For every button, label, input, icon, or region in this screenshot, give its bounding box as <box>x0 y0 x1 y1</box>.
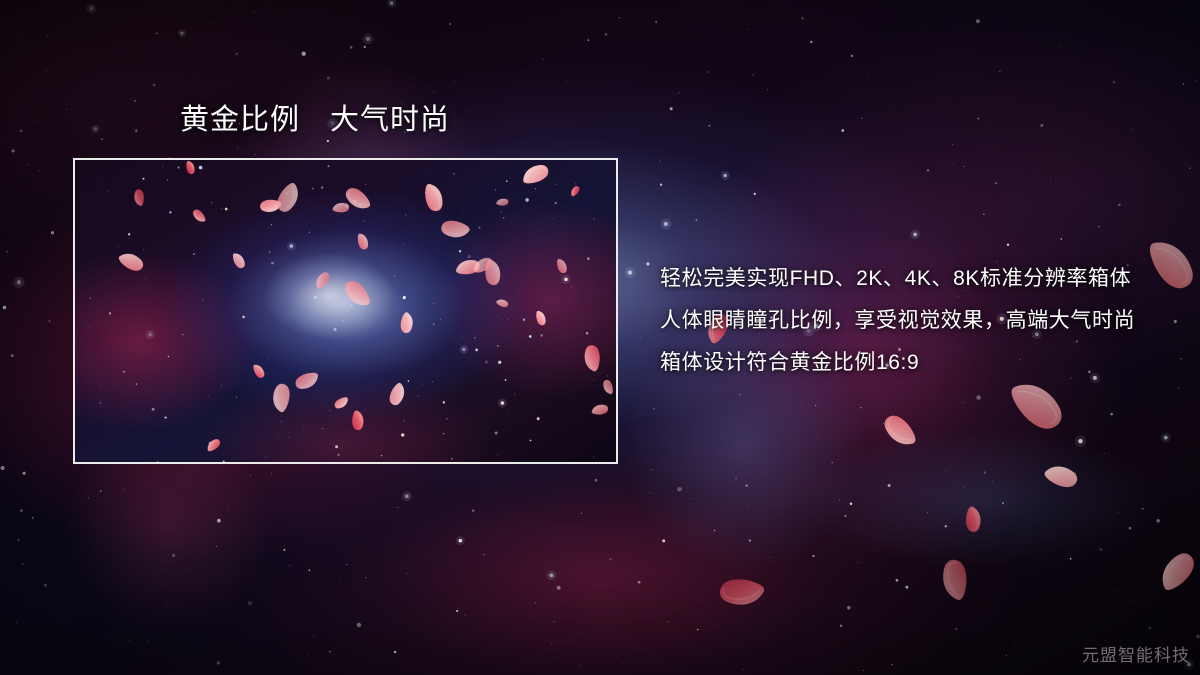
body-text-block: 轻松完美实现FHD、2K、4K、8K标准分辨率箱体 人体眼睛瞳孔比例，享受视觉效… <box>660 258 1180 384</box>
watermark-text: 元盟智能科技 <box>1082 645 1190 667</box>
rose-petal <box>1151 546 1200 596</box>
preview-image-frame[interactable] <box>73 158 618 464</box>
rose-petal <box>878 408 921 454</box>
body-line-1: 轻松完美实现FHD、2K、4K、8K标准分辨率箱体 <box>660 258 1180 300</box>
rose-petal <box>1041 459 1082 494</box>
slide-canvas: 黄金比例 大气时尚 轻松完美实现FHD、2K、4K、8K标准分辨率箱体 人体眼睛… <box>0 0 1200 675</box>
preview-core-glow <box>75 160 616 462</box>
rose-petal <box>716 575 767 610</box>
rose-petal <box>964 505 984 534</box>
rose-petal <box>940 558 968 602</box>
slide-title: 黄金比例 大气时尚 <box>180 100 450 140</box>
body-line-2: 人体眼睛瞳孔比例，享受视觉效果，高端大气时尚 <box>660 300 1180 342</box>
body-line-3: 箱体设计符合黄金比例16:9 <box>660 342 1180 384</box>
